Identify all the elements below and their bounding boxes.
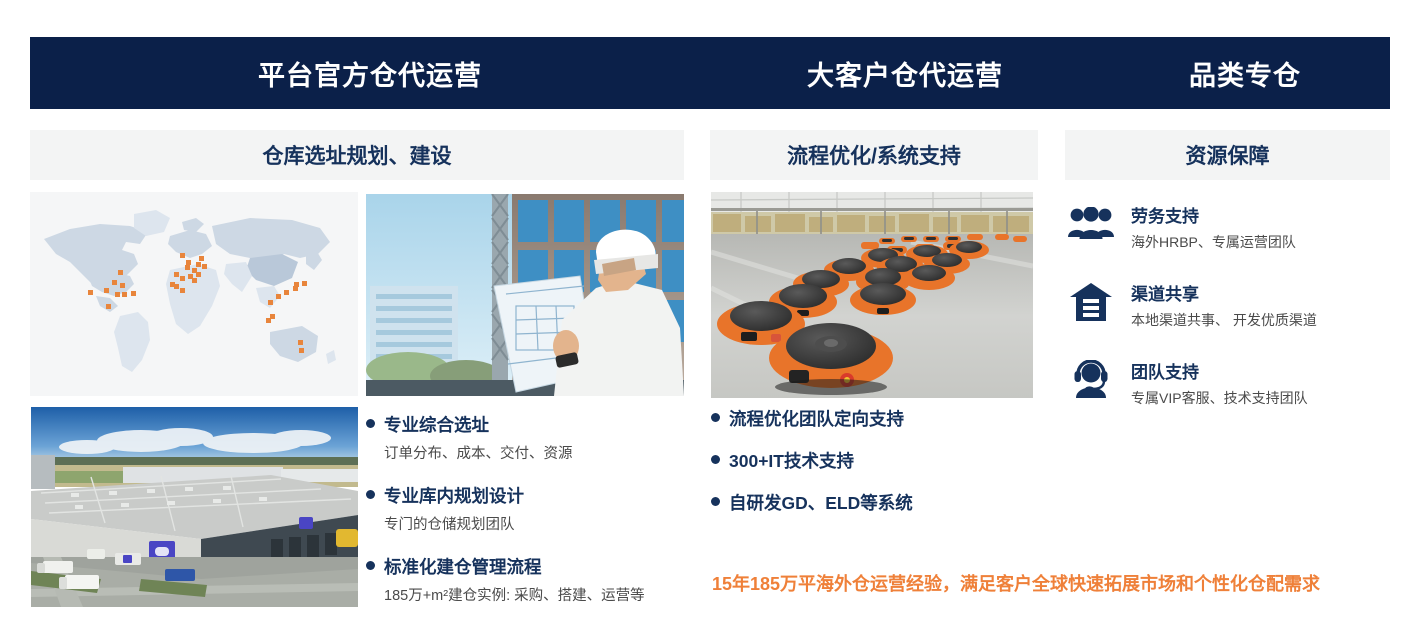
section-title-resource-guarantee: 资源保障 <box>1065 130 1390 180</box>
header-item-platform-official[interactable]: 平台官方仓代运营 <box>30 54 710 93</box>
bullet-title-row: 300+IT技术支持 <box>711 448 1041 473</box>
bullet-desc: 订单分布、成本、交付、资源 <box>384 442 696 463</box>
feature-text: 渠道共享 本地渠道共事、 开发优质渠道 <box>1131 278 1317 330</box>
section-title-process-optimization: 流程优化/系统支持 <box>710 130 1038 180</box>
people-group-icon <box>1065 200 1117 248</box>
bullet-dot-icon <box>711 497 720 506</box>
headset-support-icon <box>1065 356 1117 404</box>
slide-root: 平台官方仓代运营 大客户仓代运营 品类专仓 仓库选址规划、建设 流程优化/系统支… <box>0 0 1422 641</box>
bullet-item: 流程优化团队定向支持 <box>711 406 1041 431</box>
bullet-title: 300+IT技术支持 <box>729 448 854 473</box>
bullet-item: 专业库内规划设计 专门的仓储规划团队 <box>366 483 696 534</box>
header-bar: 平台官方仓代运营 大客户仓代运营 品类专仓 <box>30 37 1390 109</box>
site-planning-bullet-list: 专业综合选址 订单分布、成本、交付、资源 专业库内规划设计 专门的仓储规划团队 … <box>366 412 696 625</box>
bullet-item: 专业综合选址 订单分布、成本、交付、资源 <box>366 412 696 463</box>
world-map-graphic <box>30 192 358 396</box>
bullet-dot-icon <box>711 413 720 422</box>
feature-desc: 专属VIP客服、技术支持团队 <box>1131 388 1308 408</box>
aerial-warehouse-graphic <box>31 407 358 607</box>
bullet-item: 300+IT技术支持 <box>711 448 1041 473</box>
bullet-title: 专业库内规划设计 <box>384 483 524 508</box>
section-title-process-optimization-label: 流程优化/系统支持 <box>787 140 961 170</box>
bullet-title-row: 标准化建仓管理流程 <box>366 554 696 579</box>
section-title-site-planning-label: 仓库选址规划、建设 <box>263 140 452 170</box>
bullet-dot-icon <box>366 490 375 499</box>
feature-desc: 本地渠道共事、 开发优质渠道 <box>1131 310 1317 330</box>
bullet-title-row: 专业综合选址 <box>366 412 696 437</box>
engineer-blueprint-graphic <box>366 194 684 396</box>
bullet-desc: 185万+m²建仓实例: 采购、搭建、运营等 <box>384 584 696 605</box>
bullet-title: 流程优化团队定向支持 <box>729 406 904 431</box>
engineer-blueprint-image <box>366 194 684 396</box>
resource-guarantee-feature-list: 劳务支持 海外HRBP、专属运营团队 渠道共享 本地渠道共事、 开发优质渠道 <box>1065 200 1395 434</box>
bullet-desc: 专门的仓储规划团队 <box>384 513 696 534</box>
feature-title: 团队支持 <box>1131 358 1308 383</box>
bullet-title: 自研发GD、ELD等系统 <box>729 490 913 515</box>
aerial-warehouse-image <box>31 407 358 607</box>
bullet-dot-icon <box>366 419 375 428</box>
process-support-bullet-list: 流程优化团队定向支持 300+IT技术支持 自研发GD、ELD等系统 <box>711 406 1041 532</box>
feature-title: 渠道共享 <box>1131 280 1317 305</box>
footnote-text: 15年185万平海外仓运营经验，满足客户全球快速拓展市场和个性化仓配需求 <box>712 570 1320 596</box>
warehouse-robots-graphic <box>711 192 1033 398</box>
feature-item-team-support: 团队支持 专属VIP客服、技术支持团队 <box>1065 356 1395 408</box>
bullet-item: 自研发GD、ELD等系统 <box>711 490 1041 515</box>
bullet-dot-icon <box>711 455 720 464</box>
bullet-item: 标准化建仓管理流程 185万+m²建仓实例: 采购、搭建、运营等 <box>366 554 696 605</box>
header-item-category-warehouse[interactable]: 品类专仓 <box>1100 54 1390 93</box>
feature-item-channel-sharing: 渠道共享 本地渠道共事、 开发优质渠道 <box>1065 278 1395 330</box>
feature-text: 劳务支持 海外HRBP、专属运营团队 <box>1131 200 1296 252</box>
warehouse-building-icon <box>1065 278 1117 326</box>
header-item-key-account[interactable]: 大客户仓代运营 <box>710 54 1100 93</box>
feature-text: 团队支持 专属VIP客服、技术支持团队 <box>1131 356 1308 408</box>
bullet-title: 标准化建仓管理流程 <box>384 554 542 579</box>
section-title-resource-guarantee-label: 资源保障 <box>1186 140 1270 170</box>
feature-title: 劳务支持 <box>1131 202 1296 227</box>
bullet-title: 专业综合选址 <box>384 412 489 437</box>
warehouse-robots-image <box>711 192 1033 398</box>
world-map-image <box>30 192 358 396</box>
bullet-title-row: 专业库内规划设计 <box>366 483 696 508</box>
feature-item-labor-support: 劳务支持 海外HRBP、专属运营团队 <box>1065 200 1395 252</box>
bullet-title-row: 自研发GD、ELD等系统 <box>711 490 1041 515</box>
bullet-dot-icon <box>366 561 375 570</box>
section-title-site-planning: 仓库选址规划、建设 <box>30 130 684 180</box>
feature-desc: 海外HRBP、专属运营团队 <box>1131 232 1296 252</box>
bullet-title-row: 流程优化团队定向支持 <box>711 406 1041 431</box>
